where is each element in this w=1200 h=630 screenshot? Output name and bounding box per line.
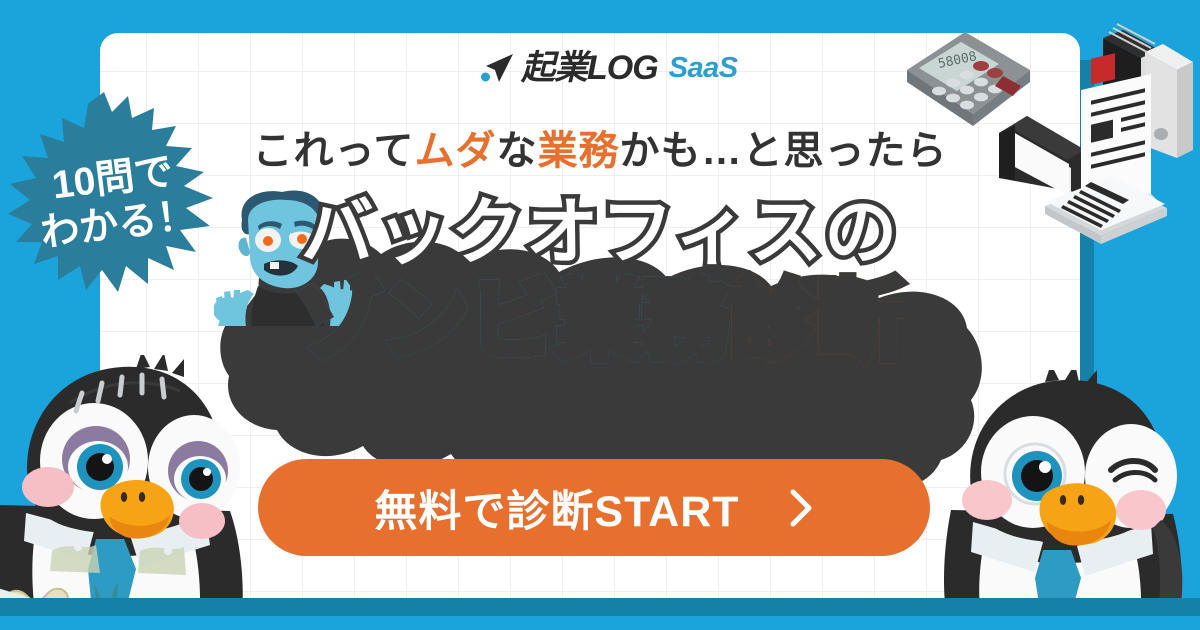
- cta-label: 無料で診断START: [374, 477, 739, 539]
- start-diagnosis-button[interactable]: 無料で診断START: [258, 459, 930, 556]
- brand-logo[interactable]: 起業LOG SaaS: [480, 46, 738, 90]
- title-line-2-orange: 診断: [731, 273, 905, 369]
- paper-plane-icon: [480, 53, 514, 83]
- sub-headline-highlight: 業務: [538, 129, 620, 173]
- sub-headline-part: な: [497, 129, 538, 173]
- badge-text: 10問で わかる！: [0, 74, 236, 330]
- title-line-2-cyan: ゾンビ業務: [296, 273, 731, 369]
- zombie-penguin-illustration: [0, 355, 290, 630]
- banner-root: 58008: [0, 0, 1200, 630]
- calculator-illustration: 58008: [907, 32, 1030, 126]
- chevron-right-icon: [788, 488, 814, 528]
- bottom-band-cyan: [0, 616, 1200, 630]
- bottom-band-teal: [0, 598, 1200, 616]
- sub-headline-part: かも…と思ったら: [620, 129, 948, 173]
- logo-suffix-text: SaaS: [669, 54, 738, 83]
- logo-brand-text: 起業LOG: [521, 51, 658, 85]
- healthy-penguin-illustration: [925, 370, 1200, 630]
- sub-headline-part: これって: [253, 129, 415, 173]
- sub-headline-highlight: ムダ: [415, 129, 497, 173]
